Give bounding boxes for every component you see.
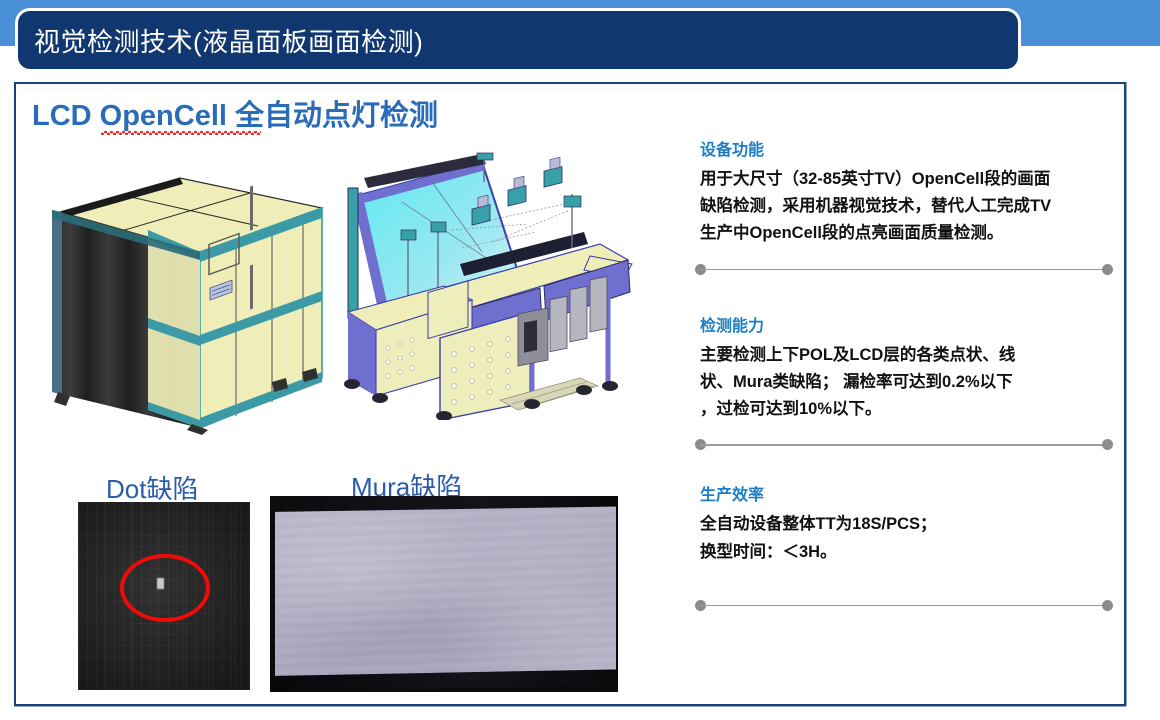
info-line: ，过检可达到10%以下。: [700, 396, 1116, 423]
divider-line: [700, 444, 1108, 446]
dot-defect-photo: [78, 502, 250, 690]
info-block-title: 检测能力: [700, 312, 1116, 336]
info-line: 主要检测上下POL及LCD层的各类点状、线: [700, 342, 1116, 369]
divider-line: [700, 605, 1108, 607]
spacer: [686, 451, 1116, 481]
content-frame: LCD OpenCell 全自动点灯检测: [14, 82, 1126, 706]
info-line: 换型时间：＜3H。: [700, 539, 1116, 566]
slide-root: 视觉检测技术(液晶面板画面检测) LCD OpenCell 全自动点灯检测: [0, 0, 1160, 720]
header-title-box: 视觉检测技术(液晶面板画面检测): [18, 11, 1018, 69]
info-line: 生产中OpenCell段的点亮画面质量检测。: [700, 220, 1116, 247]
info-line: 状、Mura类缺陷； 漏检率可达到0.2%以下: [700, 369, 1116, 396]
section-divider: [686, 600, 1116, 612]
divider-line: [700, 269, 1108, 271]
section-heading: LCD OpenCell 全自动点灯检测: [32, 92, 438, 134]
spacer: [686, 276, 1116, 312]
enclosure-cabinet-illustration: [40, 160, 340, 435]
page-title: 视觉检测技术(液晶面板画面检测): [18, 22, 423, 59]
mura-defect-photo: [270, 496, 618, 692]
dot-defect-caption: Dot缺陷: [106, 469, 198, 506]
info-block-body: 主要检测上下POL及LCD层的各类点状、线 状、Mura类缺陷； 漏检率可达到0…: [700, 342, 1116, 424]
inspection-station-illustration: [332, 152, 642, 420]
info-block-body: 全自动设备整体TT为18S/PCS； 换型时间：＜3H。: [700, 511, 1116, 565]
info-column: 设备功能 用于大尺寸（32-85英寸TV）OpenCell段的画面 缺陷检测，采…: [686, 136, 1116, 612]
section-divider: [686, 439, 1116, 451]
mura-banding-texture: [275, 504, 616, 682]
info-line: 全自动设备整体TT为18S/PCS；: [700, 511, 1116, 538]
illustration-area: [32, 146, 652, 446]
info-block-title: 生产效率: [700, 481, 1116, 505]
info-line: 缺陷检测，采用机器视觉技术，替代人工完成TV: [700, 193, 1116, 220]
info-block-title: 设备功能: [700, 136, 1116, 160]
red-ellipse-marker-icon: [120, 554, 210, 622]
info-block-function: 设备功能 用于大尺寸（32-85英寸TV）OpenCell段的画面 缺陷检测，采…: [686, 136, 1116, 248]
info-block-efficiency: 生产效率 全自动设备整体TT为18S/PCS； 换型时间：＜3H。: [686, 481, 1116, 565]
info-block-body: 用于大尺寸（32-85英寸TV）OpenCell段的画面 缺陷检测，采用机器视觉…: [700, 166, 1116, 248]
divider-dot-right-icon: [1102, 439, 1113, 450]
divider-dot-right-icon: [1102, 600, 1113, 611]
section-divider: [686, 264, 1116, 276]
divider-dot-right-icon: [1102, 264, 1113, 275]
panel-screen-surface: [275, 504, 616, 682]
info-line: 用于大尺寸（32-85英寸TV）OpenCell段的画面: [700, 166, 1116, 193]
spellcheck-underline-icon: [101, 131, 261, 135]
info-block-capability: 检测能力 主要检测上下POL及LCD层的各类点状、线 状、Mura类缺陷； 漏检…: [686, 312, 1116, 424]
